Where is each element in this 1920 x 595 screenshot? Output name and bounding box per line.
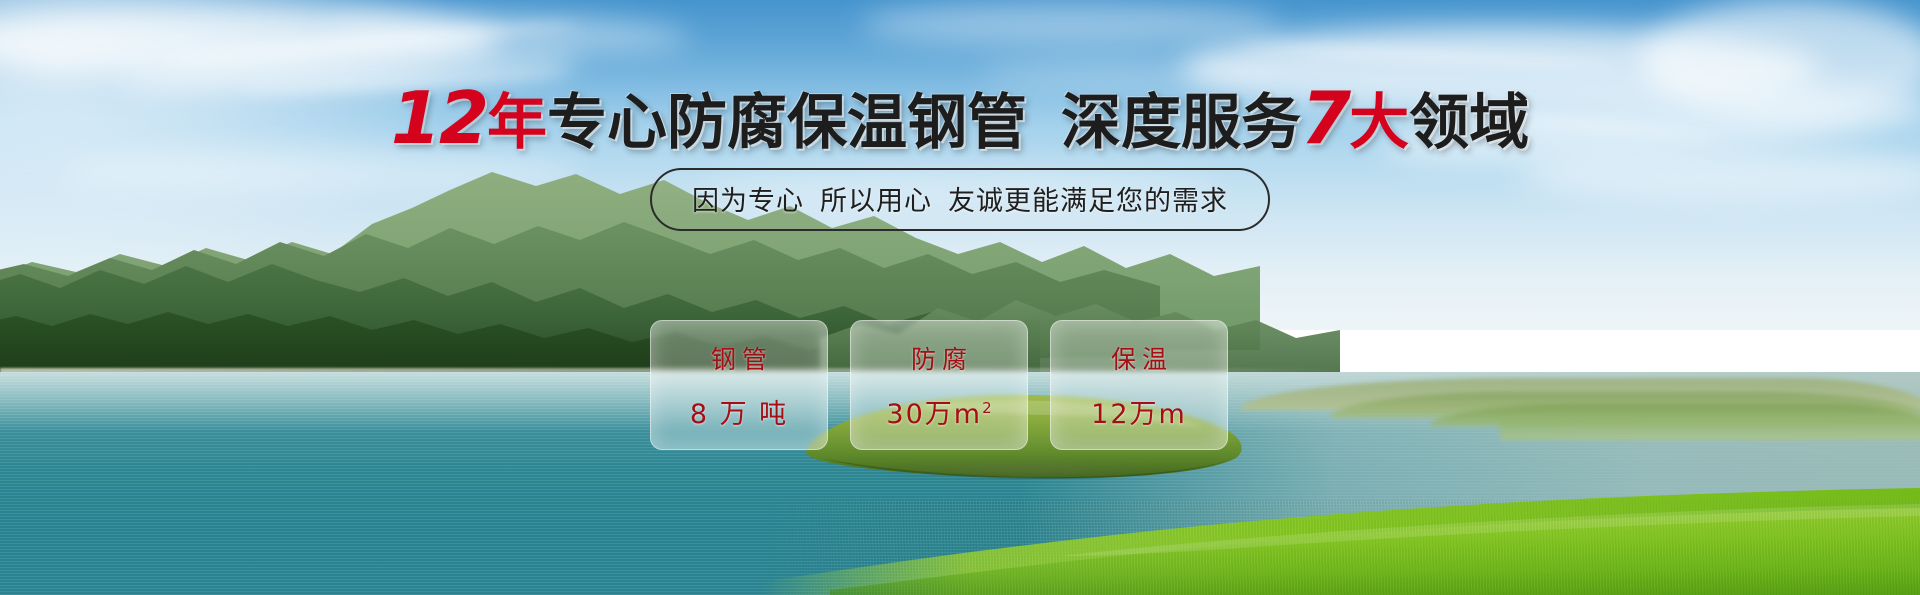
headline-fields-text: 领域: [1409, 88, 1529, 158]
stat-card-insulation[interactable]: 保温 12万m: [1050, 320, 1228, 450]
stat-card-value: 8 万 吨: [690, 392, 788, 431]
headline-years-number: 12: [391, 76, 487, 160]
cloud-icon: [860, 2, 1280, 46]
stat-card-title: 保温: [1105, 340, 1173, 376]
subtitle-part-3: 友诚更能满足您的需求: [948, 186, 1228, 217]
stat-card-value: 12万m: [1091, 392, 1187, 431]
headline-fields-unit: 大: [1349, 88, 1409, 158]
stat-card-value: 30万m2: [886, 392, 991, 431]
stat-card-steel-pipe[interactable]: 钢管 8 万 吨: [650, 320, 828, 450]
stat-card-value-text: 8 万 吨: [690, 399, 788, 430]
page-title: 12年专心防腐保温钢管深度服务7大领域: [0, 82, 1920, 154]
stat-card-title: 防腐: [905, 340, 973, 376]
stat-card-anticorrosion[interactable]: 防腐 30万m2: [850, 320, 1028, 450]
marsh-band-front: [1500, 420, 1920, 440]
headline-years-unit: 年: [487, 88, 547, 158]
headline-main-text: 专心防腐保温钢管: [547, 88, 1027, 158]
hero-banner: 12年专心防腐保温钢管深度服务7大领域 因为专心所以用心友诚更能满足您的需求 钢…: [0, 0, 1920, 595]
stat-card-value-text: 30万m: [886, 399, 982, 430]
subtitle-row: 因为专心所以用心友诚更能满足您的需求: [0, 168, 1920, 231]
grass-blade-texture: [760, 500, 1920, 595]
subtitle-part-1: 因为专心: [692, 186, 804, 217]
stat-card-group: 钢管 8 万 吨 防腐 30万m2 保温 12万m: [650, 320, 1228, 450]
stat-card-title: 钢管: [705, 340, 773, 376]
stat-card-value-text: 12万m: [1091, 399, 1187, 430]
stat-card-value-superscript: 2: [982, 399, 992, 417]
subtitle-part-2: 所以用心: [820, 186, 932, 217]
headline-service-text: 深度服务: [1061, 88, 1301, 158]
headline-fields-number: 7: [1301, 76, 1349, 160]
subtitle-pill: 因为专心所以用心友诚更能满足您的需求: [650, 168, 1270, 231]
